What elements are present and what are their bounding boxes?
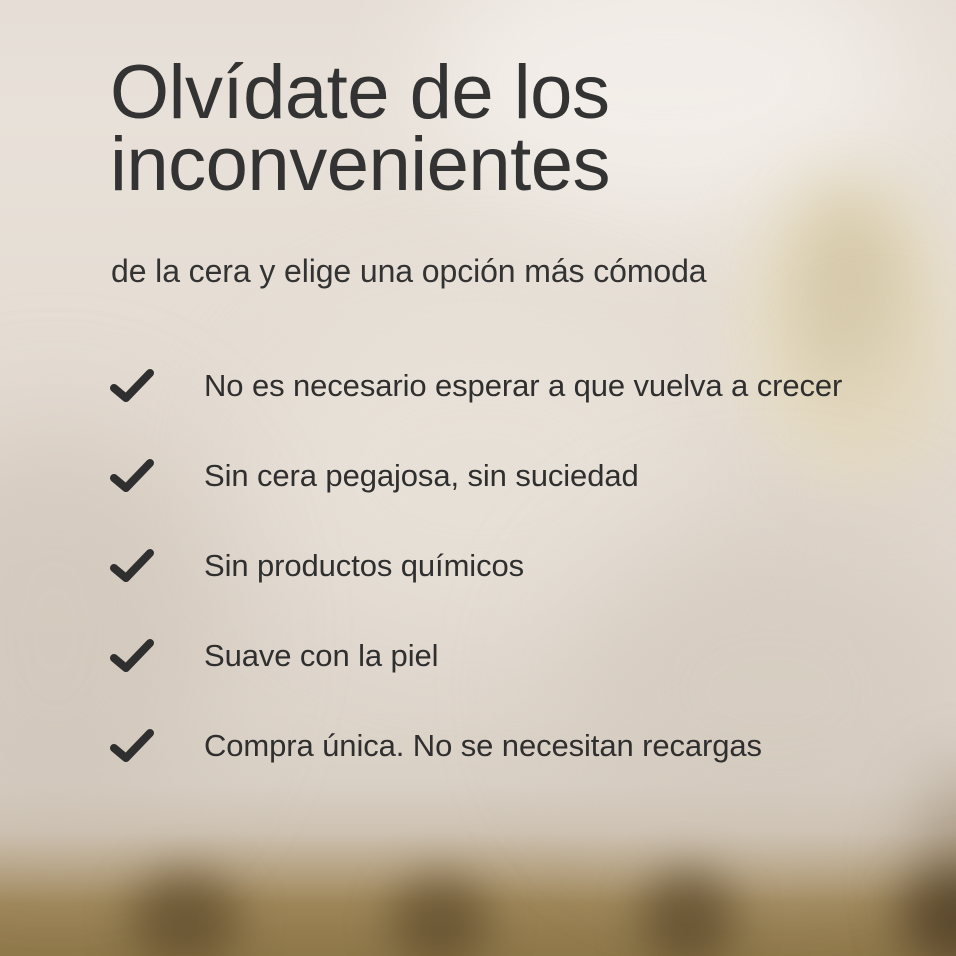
benefit-label: Compra única. No se necesitan recargas bbox=[172, 729, 954, 763]
check-icon bbox=[104, 728, 172, 764]
check-icon bbox=[104, 458, 172, 494]
text-overlay: Olvídate de los inconvenientes de la cer… bbox=[0, 0, 956, 956]
headline: Olvídate de los inconvenientes bbox=[110, 57, 920, 201]
check-icon bbox=[104, 548, 172, 584]
benefit-list: No es necesario esperar a que vuelva a c… bbox=[104, 358, 954, 808]
benefit-label: No es necesario esperar a que vuelva a c… bbox=[172, 369, 954, 403]
promo-graphic: Olvídate de los inconvenientes de la cer… bbox=[0, 0, 956, 956]
benefit-item: Sin productos químicos bbox=[104, 538, 954, 594]
check-icon bbox=[104, 638, 172, 674]
benefit-label: Suave con la piel bbox=[172, 639, 954, 673]
benefit-item: Compra única. No se necesitan recargas bbox=[104, 718, 954, 774]
benefit-item: Sin cera pegajosa, sin suciedad bbox=[104, 448, 954, 504]
check-icon bbox=[104, 368, 172, 404]
benefit-item: No es necesario esperar a que vuelva a c… bbox=[104, 358, 954, 414]
subtitle: de la cera y elige una opción más cómoda bbox=[111, 252, 931, 290]
benefit-label: Sin cera pegajosa, sin suciedad bbox=[172, 459, 954, 493]
benefit-item: Suave con la piel bbox=[104, 628, 954, 684]
benefit-label: Sin productos químicos bbox=[172, 549, 954, 583]
